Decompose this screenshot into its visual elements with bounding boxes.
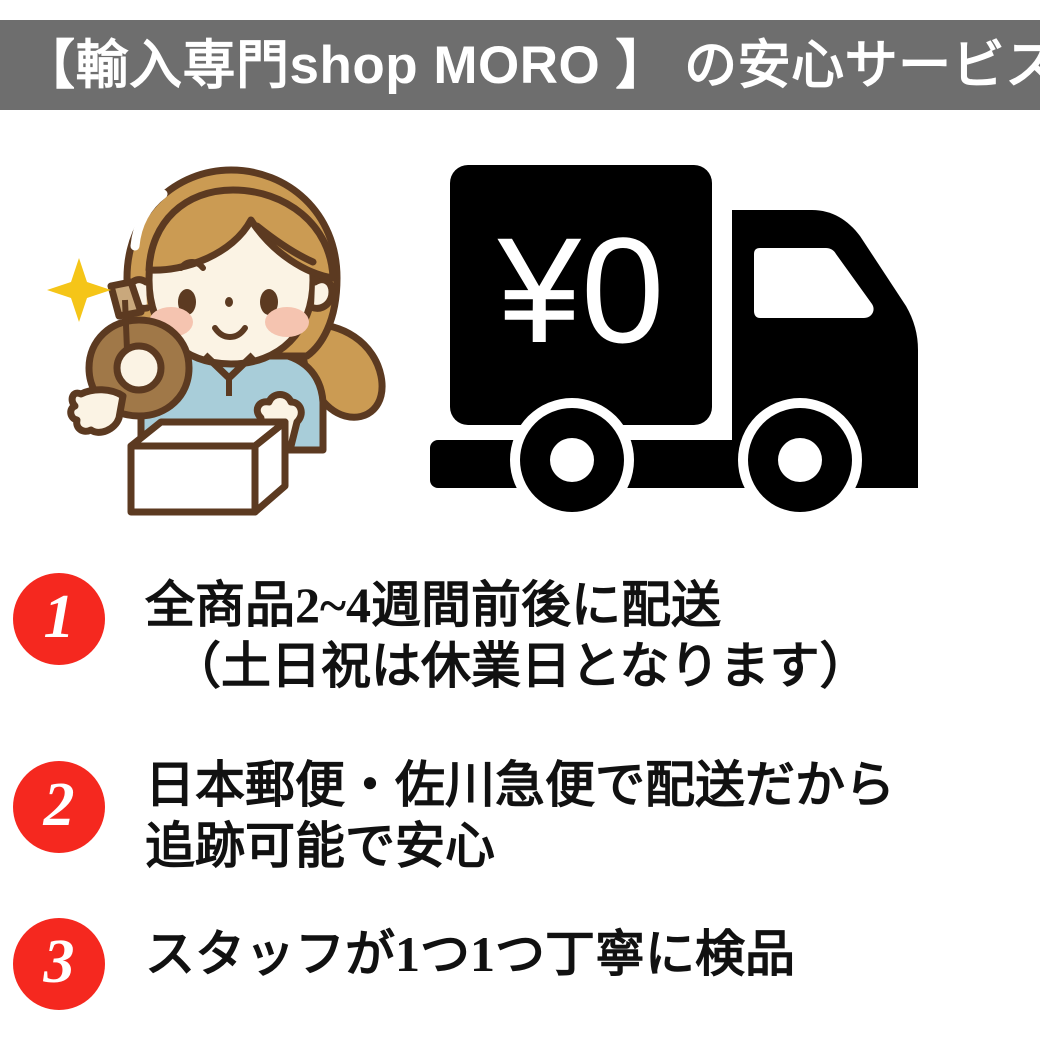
promo-banner-page: 【輸入専門shop MORO 】 の安心サービス xyxy=(0,0,1040,1040)
list-item: 2 日本郵便・佐川急便で配送だから 追跡可能で安心 xyxy=(0,753,1040,877)
header-band: 【輸入専門shop MORO 】 の安心サービス xyxy=(0,20,1040,110)
list-item: 3 スタッフが1つ1つ丁寧に検品 xyxy=(0,910,1040,1010)
delivery-truck-icon: ¥0 xyxy=(420,140,990,530)
list-item-line: 追跡可能で安心 xyxy=(145,816,1040,877)
sparkle-icon xyxy=(47,258,111,322)
cargo-price-label: ¥0 xyxy=(497,206,665,374)
number-badge: 1 xyxy=(13,573,105,665)
list-item-line: スタッフが1つ1つ丁寧に検品 xyxy=(145,924,1040,985)
badge-number: 2 xyxy=(44,774,75,840)
page-title: 【輸入専門shop MORO 】 の安心サービス xyxy=(22,39,1040,92)
list-item-text: 日本郵便・佐川急便で配送だから 追跡可能で安心 xyxy=(145,753,1040,877)
rear-hub xyxy=(550,438,594,482)
list-item-line: （土日祝は休業日となります） xyxy=(145,636,1040,697)
cardboard-box xyxy=(131,422,285,512)
right-cheek xyxy=(265,307,309,337)
woman-packing-box-illustration xyxy=(45,150,415,520)
list-item: 1 全商品2~4週間前後に配送 （土日祝は休業日となります） xyxy=(0,573,1040,697)
number-badge: 3 xyxy=(13,918,105,1010)
nose xyxy=(225,297,233,307)
badge-number: 1 xyxy=(44,586,75,652)
list-item-text: 全商品2~4週間前後に配送 （土日祝は休業日となります） xyxy=(145,573,1040,697)
right-ear xyxy=(314,280,332,309)
front-hub xyxy=(778,438,822,482)
service-list: 1 全商品2~4週間前後に配送 （土日祝は休業日となります） 2 日本郵便・佐川… xyxy=(0,545,1040,1040)
list-item-text: スタッフが1つ1つ丁寧に検品 xyxy=(145,910,1040,985)
illustration-area: ¥0 xyxy=(0,120,1040,540)
left-hand xyxy=(71,390,123,433)
number-badge: 2 xyxy=(13,761,105,853)
list-item-line: 日本郵便・佐川急便で配送だから xyxy=(145,755,1040,816)
list-item-line: 全商品2~4週間前後に配送 xyxy=(145,575,1040,636)
badge-number: 3 xyxy=(44,931,75,997)
